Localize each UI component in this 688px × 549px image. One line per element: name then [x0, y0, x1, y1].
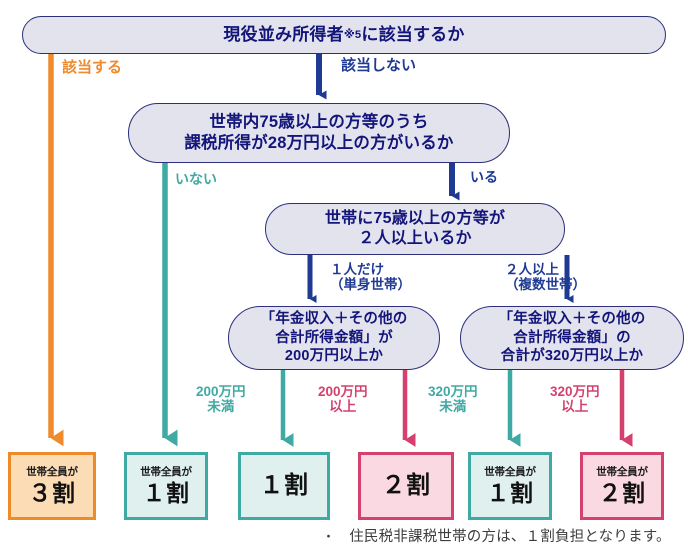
node-single-label: 「年金収入＋その他の 合計所得金額」が 200万円以上か	[261, 310, 408, 366]
result-caption: 世帯全員が	[484, 467, 536, 479]
result-box-20-percent-single-over-200[interactable]: ２割	[358, 452, 454, 520]
decision-node-active-income[interactable]: 現役並み所得者※5に該当するか	[22, 16, 666, 54]
result-value: １割	[143, 481, 190, 505]
decision-node-single-household-200[interactable]: 「年金収入＋その他の 合計所得金額」が 200万円以上か	[228, 306, 440, 370]
edge-label-none-exist: いない	[175, 172, 217, 188]
result-caption: 世帯全員が	[596, 467, 648, 479]
node-root-label-part2: に該当するか	[361, 24, 464, 46]
result-value: ２割	[599, 481, 646, 505]
node-root-label-part1: 現役並み所得者	[223, 24, 343, 46]
flowchart-canvas: 現役並み所得者※5に該当するか 世帯内75歳以上の方等のうち 課税所得が28万円…	[0, 0, 688, 549]
edge-label-over-2000000: 200万円 以上	[318, 384, 368, 414]
footnote-bullet-icon: ・	[322, 526, 335, 545]
result-caption: 世帯全員が	[140, 467, 192, 479]
node-multi-label: 「年金収入＋その他の 合計所得金額」の 合計が320万円以上か	[499, 310, 646, 366]
decision-node-taxable-income-28[interactable]: 世帯内75歳以上の方等のうち 課税所得が28万円以上の方がいるか	[128, 103, 510, 163]
edge-label-applicable: 該当する	[62, 60, 122, 77]
node-root-footnote-marker: ※5	[344, 28, 362, 42]
edge-label-one-person: １人だけ （単身世帯）	[330, 262, 411, 292]
result-box-10-percent-all-members-no-tax[interactable]: 世帯全員が １割	[124, 452, 208, 520]
result-value: ２割	[382, 473, 431, 498]
edge-label-two-or-more: ２人以上 （複数世帯）	[505, 262, 586, 292]
edge-label-exists: いる	[470, 170, 498, 186]
result-value: ３割	[29, 481, 76, 505]
footnote: ・ 住民税非課税世帯の方は、１割負担となります。	[322, 525, 671, 546]
result-box-10-percent-multi-under-320[interactable]: 世帯全員が １割	[468, 452, 552, 520]
decision-node-household-member-count[interactable]: 世帯に75歳以上の方等が ２人以上いるか	[265, 203, 565, 255]
result-value: １割	[260, 473, 309, 498]
edge-label-under-2000000: 200万円 未満	[196, 384, 246, 414]
result-value: １割	[487, 481, 534, 505]
result-caption: 世帯全員が	[26, 467, 78, 479]
edge-label-not-applicable: 該当しない	[341, 58, 416, 75]
result-box-30-percent-all-members[interactable]: 世帯全員が ３割	[8, 452, 96, 520]
result-box-20-percent-multi-over-320[interactable]: 世帯全員が ２割	[580, 452, 664, 520]
node-count-label: 世帯に75歳以上の方等が ２人以上いるか	[325, 209, 505, 250]
footnote-text: 住民税非課税世帯の方は、１割負担となります。	[349, 525, 671, 546]
node-tax28-label: 世帯内75歳以上の方等のうち 課税所得が28万円以上の方がいるか	[184, 112, 453, 154]
edge-label-over-3200000: 320万円 以上	[550, 384, 600, 414]
edge-label-under-3200000: 320万円 未満	[428, 384, 478, 414]
result-box-10-percent-single-under-200[interactable]: １割	[238, 452, 330, 520]
decision-node-multi-household-320[interactable]: 「年金収入＋その他の 合計所得金額」の 合計が320万円以上か	[460, 306, 684, 370]
